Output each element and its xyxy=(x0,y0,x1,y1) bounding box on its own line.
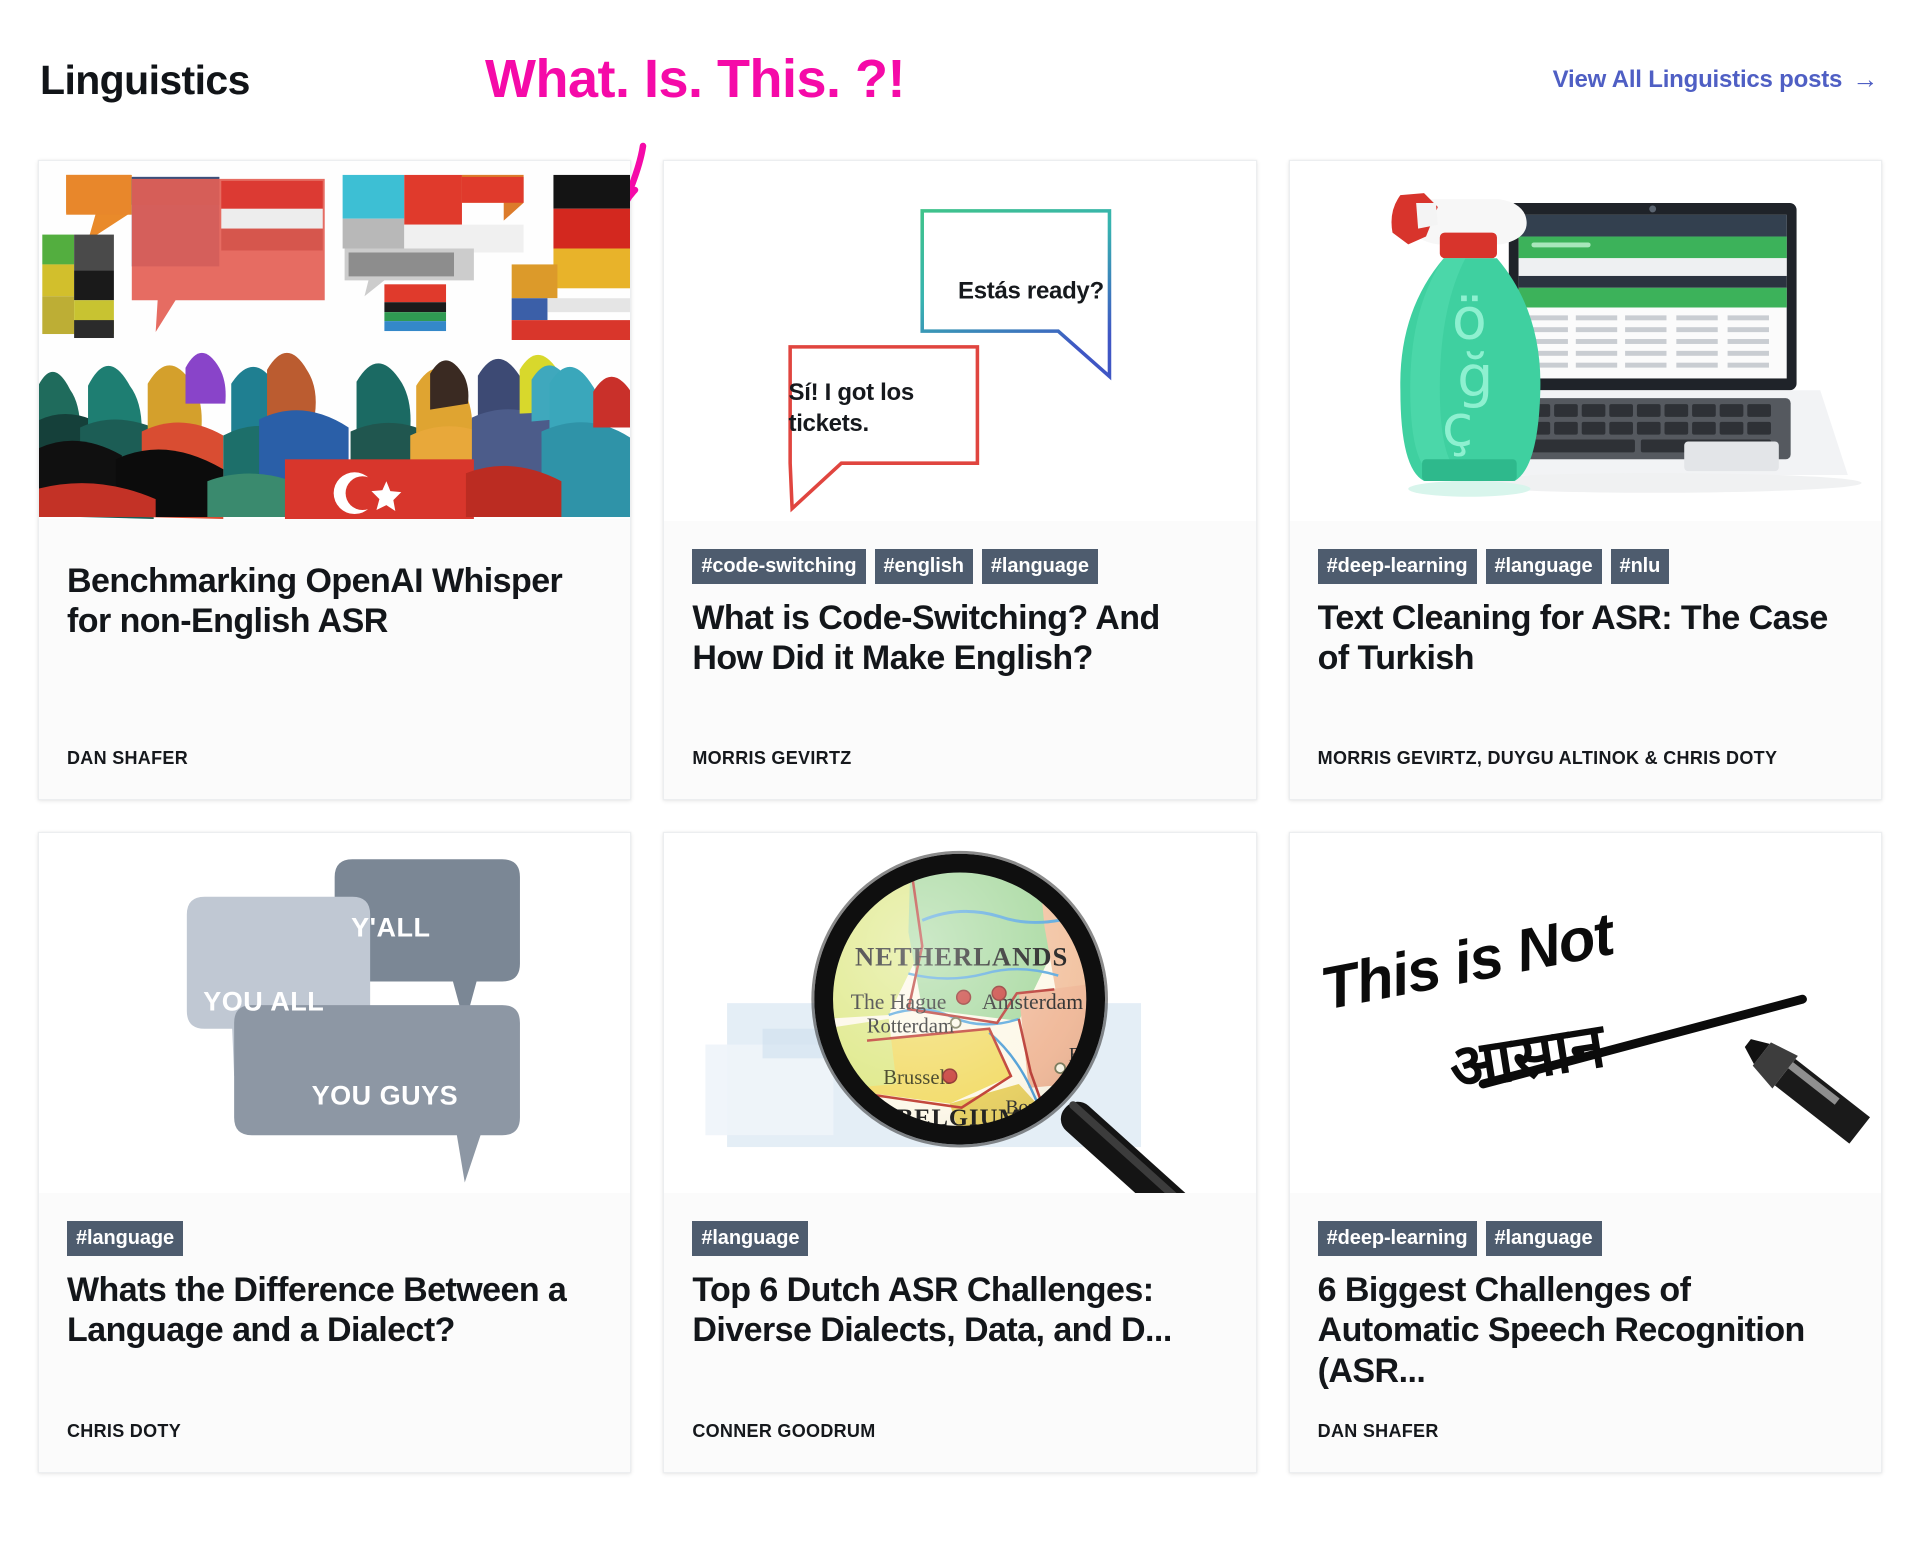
speech-bubble-green-text: Estás ready? xyxy=(958,275,1104,306)
post-card-grid: Benchmarking OpenAI Whisper for non-Engl… xyxy=(38,160,1882,1473)
card-image-handwriting: This is Not आसान xyxy=(1290,833,1881,1193)
post-card[interactable]: Benchmarking OpenAI Whisper for non-Engl… xyxy=(38,160,631,800)
card-image-flag-collage xyxy=(39,161,630,519)
card-tag-list: #code-switching #english #language xyxy=(692,549,1227,584)
card-title: Top 6 Dutch ASR Challenges: Diverse Dial… xyxy=(692,1270,1227,1351)
post-card[interactable]: ö ğ ç #deep-learning #language #nlu Text… xyxy=(1289,160,1882,800)
gray-bubble-label-you-guys: YOU GUYS xyxy=(312,1080,459,1111)
arrow-right-icon: → xyxy=(1852,66,1878,92)
card-tag[interactable]: #language xyxy=(982,549,1098,584)
linguistics-section: Linguistics View All Linguistics posts →… xyxy=(0,0,1920,1546)
view-all-linguistics-posts-link[interactable]: View All Linguistics posts → xyxy=(1553,66,1878,94)
card-tag[interactable]: #code-switching xyxy=(692,549,865,584)
card-author: MORRIS GEVIRTZ xyxy=(692,748,1227,769)
card-tag[interactable]: #nlu xyxy=(1611,549,1670,584)
card-image-gray-bubbles: Y'ALL YOU ALL YOU GUYS xyxy=(39,833,630,1193)
section-header: Linguistics View All Linguistics posts → xyxy=(38,0,1882,160)
card-author: DAN SHAFER xyxy=(67,748,602,769)
card-tag[interactable]: #deep-learning xyxy=(1318,549,1477,584)
post-card[interactable]: Y'ALL YOU ALL YOU GUYS #language Whats t… xyxy=(38,832,631,1473)
card-body: #language Top 6 Dutch ASR Challenges: Di… xyxy=(664,1193,1255,1472)
card-body: #deep-learning #language #nlu Text Clean… xyxy=(1290,521,1881,799)
svg-text:ö: ö xyxy=(1452,287,1487,353)
card-image-spray-laptop: ö ğ ç xyxy=(1290,161,1881,521)
svg-text:ç: ç xyxy=(1441,393,1472,459)
post-card[interactable]: This is Not आसान #deep-learning #languag… xyxy=(1289,832,1882,1473)
card-tag[interactable]: #language xyxy=(1486,1221,1602,1256)
card-title: Benchmarking OpenAI Whisper for non-Engl… xyxy=(67,561,602,642)
page-title: Linguistics xyxy=(40,60,250,101)
handwriting-pen-photo: This is Not आसान xyxy=(1290,833,1881,1193)
post-card[interactable]: Estás ready? Sí! I got los tickets. #cod… xyxy=(663,160,1256,800)
card-body: #code-switching #english #language What … xyxy=(664,521,1255,799)
card-title: What is Code-Switching? And How Did it M… xyxy=(692,598,1227,679)
speech-bubble-red-text: Sí! I got los tickets. xyxy=(789,377,959,439)
gray-speech-bubbles-illustration: Y'ALL YOU ALL YOU GUYS xyxy=(39,833,630,1193)
card-image-outline-bubbles: Estás ready? Sí! I got los tickets. xyxy=(664,161,1255,521)
card-tag[interactable]: #deep-learning xyxy=(1318,1221,1477,1256)
card-tag[interactable]: #language xyxy=(692,1221,808,1256)
gray-bubble-label-you-all: YOU ALL xyxy=(203,987,324,1018)
spray-bottle-laptop-illustration: ö ğ ç xyxy=(1290,161,1881,521)
card-author: CONNER GOODRUM xyxy=(692,1421,1227,1442)
card-author: CHRIS DOTY xyxy=(67,1421,602,1442)
card-title: Whats the Difference Between a Language … xyxy=(67,1270,602,1351)
card-tag-list: #language xyxy=(67,1221,602,1256)
card-tag-list: #deep-learning #language #nlu xyxy=(1318,549,1853,584)
card-tag-list: #deep-learning #language xyxy=(1318,1221,1853,1256)
post-card[interactable]: NETHERLANDS The Hague Rotterdam Amsterda… xyxy=(663,832,1256,1473)
card-image-magnifier-map: NETHERLANDS The Hague Rotterdam Amsterda… xyxy=(664,833,1255,1193)
magnifier-netherlands-map-photo: NETHERLANDS The Hague Rotterdam Amsterda… xyxy=(664,833,1255,1193)
outline-speech-bubbles-illustration: Estás ready? Sí! I got los tickets. xyxy=(664,161,1255,521)
card-tag[interactable]: #language xyxy=(67,1221,183,1256)
flag-collage-illustration xyxy=(39,161,630,519)
card-tag[interactable]: #english xyxy=(875,549,973,584)
card-body: Benchmarking OpenAI Whisper for non-Engl… xyxy=(39,519,630,799)
card-body: #deep-learning #language 6 Biggest Chall… xyxy=(1290,1193,1881,1472)
gray-bubble-label-yall: Y'ALL xyxy=(351,913,430,944)
card-author: DAN SHAFER xyxy=(1318,1421,1853,1442)
card-tag-list: #language xyxy=(692,1221,1227,1256)
card-tag[interactable]: #language xyxy=(1486,549,1602,584)
card-title: 6 Biggest Challenges of Automatic Speech… xyxy=(1318,1270,1853,1391)
card-author: MORRIS GEVIRTZ, DUYGU ALTINOK & CHRIS DO… xyxy=(1318,748,1853,769)
view-all-label: View All Linguistics posts xyxy=(1553,66,1843,94)
card-title: Text Cleaning for ASR: The Case of Turki… xyxy=(1318,598,1853,679)
card-body: #language Whats the Difference Between a… xyxy=(39,1193,630,1472)
